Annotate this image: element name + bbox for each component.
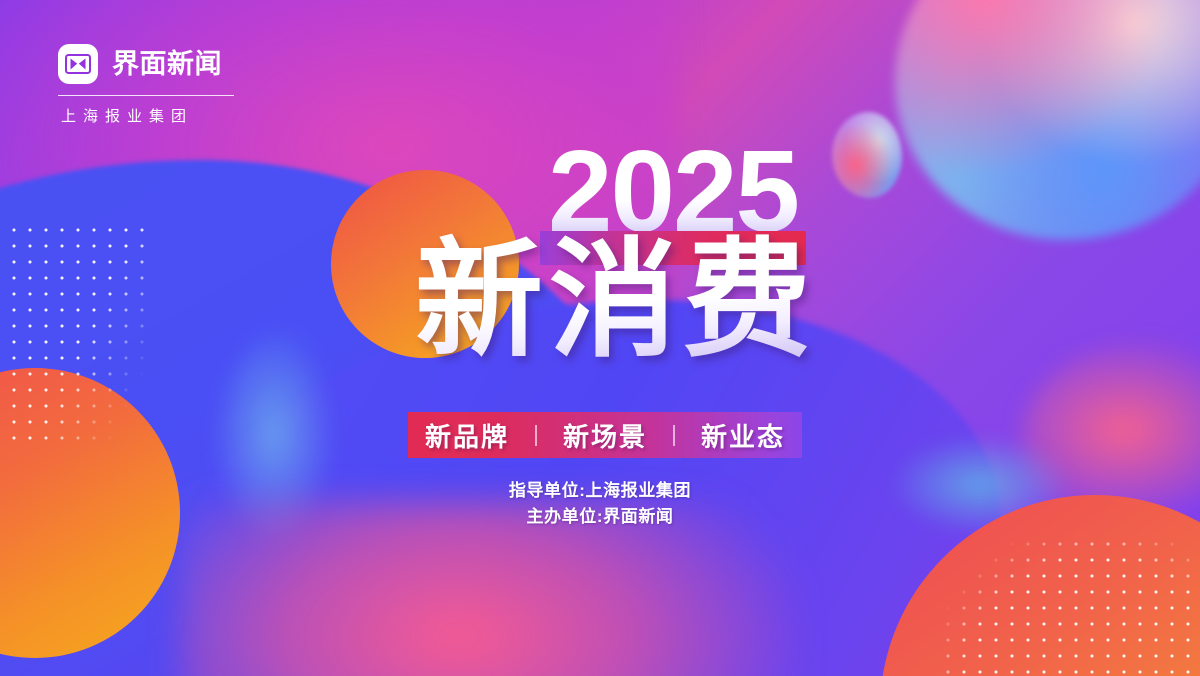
subtitle-bar: 新品牌 新场景 新业态 — [408, 412, 802, 458]
credit-line-guidance: 指导单位:上海报业集团 — [0, 478, 1200, 504]
page-title: 新消费 — [415, 233, 817, 370]
subtitle-separator-2 — [673, 425, 675, 446]
subtitle-item-1: 新品牌 — [421, 417, 513, 454]
dot-grid-bottom-right — [940, 536, 1200, 676]
brand-logo: 界面新闻 上海报业集团 — [58, 44, 238, 126]
logo-divider — [58, 95, 234, 96]
credit-line-organizer: 主办单位:界面新闻 — [0, 504, 1200, 530]
subtitle-separator-1 — [535, 425, 537, 446]
iridescent-blob-top-right — [895, 0, 1200, 240]
jiemian-screen-icon — [58, 44, 98, 84]
parent-org-name: 上海报业集团 — [58, 105, 238, 126]
credits-block: 指导单位:上海报业集团 主办单位:界面新闻 — [0, 478, 1200, 530]
brand-name: 界面新闻 — [112, 51, 222, 78]
dot-grid-left — [6, 222, 156, 448]
logo-row: 界面新闻 — [58, 44, 238, 84]
subtitle-item-3: 新业态 — [697, 417, 789, 454]
event-poster: 界面新闻 上海报业集团 2025 新消费 新品牌 新场景 新业态 指导单位:上海… — [0, 0, 1200, 676]
iridescent-blob-small — [832, 112, 902, 198]
subtitle-item-2: 新场景 — [559, 417, 651, 454]
